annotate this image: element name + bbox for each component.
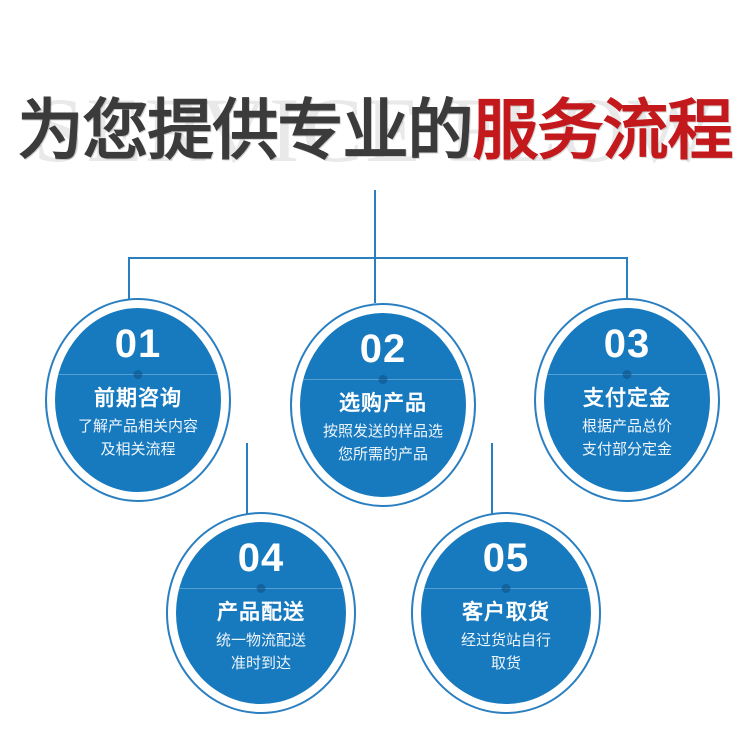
step-05-center-dot [502,584,511,593]
step-03-number: 03 [544,322,710,367]
step-04-number: 04 [176,536,346,581]
step-02-number: 02 [300,327,466,372]
step-circle-05-body: 05 客户取货 经过货站自行 取货 [421,522,591,704]
step-circle-05[interactable]: 05 客户取货 经过货站自行 取货 [411,512,601,714]
step-02-description: 按照发送的样品选 您所需的产品 [300,421,466,466]
step-05-desc-line-1: 经过货站自行 [421,630,591,653]
step-05-number: 05 [421,536,591,581]
step-01-description: 了解产品相关内容 及相关流程 [55,416,221,461]
step-04-desc-line-2: 准时到达 [176,653,346,676]
headline-red-part: 服务流程 [473,93,733,167]
service-flow-infographic: SERVICE FLOW 为您提供专业的服务流程 01 前期咨询 了解产品相关内… [0,0,750,750]
step-01-desc-line-1: 了解产品相关内容 [55,416,221,439]
step-01-center-dot [134,370,143,379]
step-circle-02[interactable]: 02 选购产品 按照发送的样品选 您所需的产品 [290,303,476,507]
step-03-description: 根据产品总价 支付部分定金 [544,416,710,461]
step-circle-01-body: 01 前期咨询 了解产品相关内容 及相关流程 [55,308,221,492]
step-01-desc-line-2: 及相关流程 [55,439,221,462]
step-circle-01[interactable]: 01 前期咨询 了解产品相关内容 及相关流程 [45,298,231,502]
step-03-desc-line-1: 根据产品总价 [544,416,710,439]
connector-drop-step-05 [491,443,493,521]
step-02-center-dot [379,375,388,384]
step-circle-04[interactable]: 04 产品配送 统一物流配送 准时到达 [166,512,356,714]
connector-drop-step-04 [246,443,248,521]
step-04-desc-line-1: 统一物流配送 [176,630,346,653]
step-04-title: 产品配送 [176,596,346,626]
connector-horizontal-bus [128,257,628,259]
step-circle-03-body: 03 支付定金 根据产品总价 支付部分定金 [544,308,710,492]
step-03-desc-line-2: 支付部分定金 [544,439,710,462]
step-05-desc-line-2: 取货 [421,653,591,676]
step-04-description: 统一物流配送 准时到达 [176,630,346,675]
step-02-desc-line-2: 您所需的产品 [300,444,466,467]
step-circle-02-body: 02 选购产品 按照发送的样品选 您所需的产品 [300,313,466,497]
headline: 为您提供专业的服务流程 [0,82,750,178]
page-title: SERVICE FLOW 为您提供专业的服务流程 [0,78,750,183]
step-04-center-dot [257,584,266,593]
step-02-desc-line-1: 按照发送的样品选 [300,421,466,444]
step-03-title: 支付定金 [544,382,710,412]
step-01-number: 01 [55,322,221,367]
step-05-title: 客户取货 [421,596,591,626]
step-circle-03[interactable]: 03 支付定金 根据产品总价 支付部分定金 [534,298,720,502]
step-03-center-dot [623,370,632,379]
step-circle-04-body: 04 产品配送 统一物流配送 准时到达 [176,522,346,704]
step-05-description: 经过货站自行 取货 [421,630,591,675]
step-02-title: 选购产品 [300,387,466,417]
headline-dark-part: 为您提供专业的 [18,93,473,167]
step-01-title: 前期咨询 [55,382,221,412]
connector-title-stem [374,190,376,258]
connector-drop-step-02 [374,257,376,303]
